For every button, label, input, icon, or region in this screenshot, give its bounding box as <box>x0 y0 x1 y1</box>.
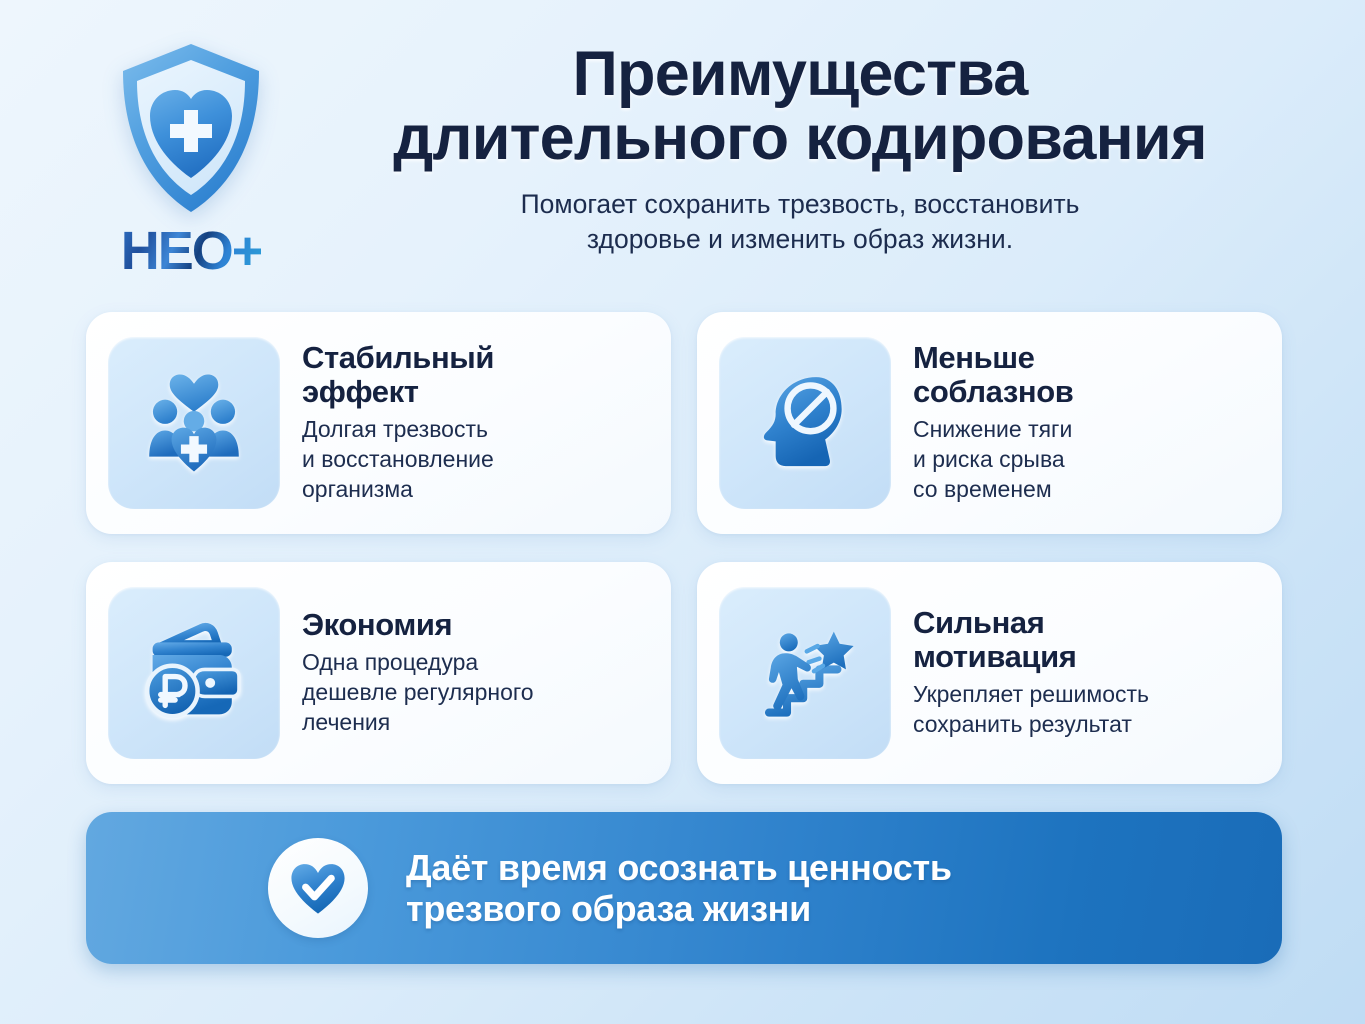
heart-check-icon <box>268 838 368 938</box>
benefit-card-text: Экономия Одна процедура дешевле регулярн… <box>302 608 647 738</box>
page-title-line-2: длительного кодирования <box>300 106 1300 170</box>
stairs-person-star-icon <box>719 587 891 759</box>
page-title-line-1: Преимущества <box>573 39 1028 109</box>
benefit-card-description: Одна процедура дешевле регулярного лечен… <box>302 648 647 738</box>
benefit-card-less-temptation: Меньше соблазнов Снижение тяги и риска с… <box>697 312 1282 534</box>
benefit-card-title: Сильная мотивация <box>913 606 1258 673</box>
benefit-card-title-line-2: эффект <box>302 374 419 409</box>
benefit-card-title-line-1: Стабильный <box>302 340 494 375</box>
benefit-card-desc-line-3: организма <box>302 476 413 502</box>
benefit-card-stable-effect: Стабильный эффект Долгая трезвость и вос… <box>86 312 671 534</box>
head-prohibition-icon <box>719 337 891 509</box>
page-subtitle-line-1: Помогает сохранить трезвость, восстанови… <box>521 189 1080 219</box>
benefit-card-title: Меньше соблазнов <box>913 341 1258 408</box>
benefit-card-description: Снижение тяги и риска срыва со временем <box>913 415 1258 505</box>
page-subtitle-line-2: здоровье и изменить образ жизни. <box>300 222 1300 257</box>
benefit-card-title-line-2: соблазнов <box>913 374 1073 409</box>
benefit-card-desc-line-1: Снижение тяги <box>913 416 1072 442</box>
benefit-card-description: Долгая трезвость и восстановление органи… <box>302 415 647 505</box>
benefit-card-title: Экономия <box>302 608 647 641</box>
brand-block: НЕО+ <box>78 40 304 278</box>
benefit-card-desc-line-2: сохранить результат <box>913 711 1132 737</box>
benefit-card-desc-line-2: дешевле регулярного <box>302 679 534 705</box>
benefit-card-desc-line-1: Одна процедура <box>302 649 478 675</box>
summary-banner-text: Даёт время осознать ценность трезвого об… <box>406 847 952 929</box>
benefit-card-text: Меньше соблазнов Снижение тяги и риска с… <box>913 341 1258 505</box>
benefit-card-description: Укрепляет решимость сохранить результат <box>913 680 1258 740</box>
summary-banner: Даёт время осознать ценность трезвого об… <box>86 812 1282 964</box>
benefit-card-desc-line-2: и восстановление <box>302 446 494 472</box>
benefit-card-desc-line-3: лечения <box>302 709 390 735</box>
benefit-card-text: Сильная мотивация Укрепляет решимость со… <box>913 606 1258 740</box>
benefit-card-grid: Стабильный эффект Долгая трезвость и вос… <box>86 312 1282 784</box>
benefit-card-motivation: Сильная мотивация Укрепляет решимость со… <box>697 562 1282 784</box>
title-block: Преимущества длительного кодирования Пом… <box>300 42 1300 257</box>
benefit-card-title-line-1: Экономия <box>302 607 452 642</box>
infographic-page: НЕО+ Преимущества длительного кодировани… <box>0 0 1365 1024</box>
benefit-card-savings: Экономия Одна процедура дешевле регулярн… <box>86 562 671 784</box>
shield-heart-plus-icon <box>117 40 265 216</box>
benefit-card-title-line-1: Сильная <box>913 605 1044 640</box>
brand-wordmark: НЕО+ <box>121 224 262 278</box>
family-heart-plus-icon <box>108 337 280 509</box>
page-subtitle: Помогает сохранить трезвость, восстанови… <box>300 187 1300 257</box>
benefit-card-desc-line-2: и риска срыва <box>913 446 1065 472</box>
benefit-card-desc-line-1: Долгая трезвость <box>302 416 488 442</box>
benefit-card-desc-line-1: Укрепляет решимость <box>913 681 1149 707</box>
benefit-card-title-line-1: Меньше <box>913 340 1035 375</box>
summary-banner-line-1: Даёт время осознать ценность <box>406 847 952 888</box>
page-title: Преимущества длительного кодирования <box>300 42 1300 171</box>
wallet-ruble-icon <box>108 587 280 759</box>
benefit-card-title: Стабильный эффект <box>302 341 647 408</box>
benefit-card-text: Стабильный эффект Долгая трезвость и вос… <box>302 341 647 505</box>
summary-banner-line-2: трезвого образа жизни <box>406 888 952 929</box>
benefit-card-title-line-2: мотивация <box>913 639 1076 674</box>
header: НЕО+ Преимущества длительного кодировани… <box>0 0 1365 300</box>
benefit-card-desc-line-3: со временем <box>913 476 1052 502</box>
